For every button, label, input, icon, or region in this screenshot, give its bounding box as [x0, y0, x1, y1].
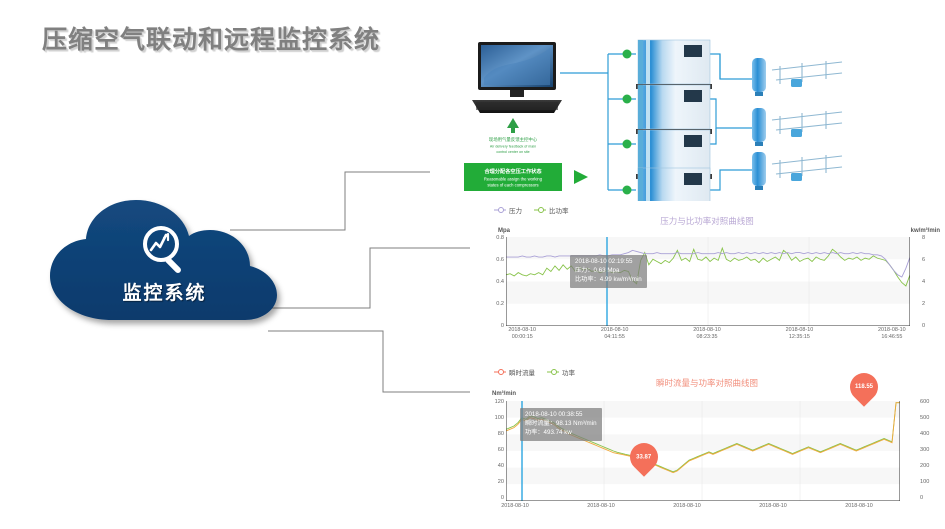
- xtick-time: 08:23:35: [697, 334, 718, 340]
- chart-flow-ylabel-left: Nm³/min: [492, 391, 516, 397]
- diagram-caption-en-2: control center on site: [496, 150, 529, 154]
- up-arrow-icon: [507, 118, 519, 128]
- diagram-caption-cn: 现场用气量反馈主控中心: [489, 136, 538, 143]
- chart-flow-vs-power: 瞬时流量 功率 瞬时流量与功率对照曲线图 Nm³/min 120 100 80 …: [472, 365, 942, 529]
- page-title: 压缩空气联动和远程监控系统: [42, 20, 380, 56]
- tooltip-timestamp: 2018-08-10 00:38:55: [525, 411, 597, 420]
- xtick-date: 2018-08-10: [508, 327, 536, 333]
- xtick-time: 04:11:55: [604, 334, 625, 340]
- legend-item-power[interactable]: 功率: [547, 367, 575, 377]
- compressor-unit: [636, 40, 712, 89]
- xtick-date: 2018-08-10: [878, 327, 906, 333]
- slide-canvas: 压缩空气联动和远程监控系统: [0, 0, 945, 529]
- xtick-date: 2018-08-10: [845, 503, 873, 509]
- air-receiver-group: [752, 108, 842, 146]
- ytick-right: 100: [920, 479, 940, 485]
- xtick-date: 2018-08-10: [587, 503, 615, 509]
- ytick-right: 400: [920, 431, 940, 437]
- chart-flow-legend[interactable]: 瞬时流量 功率: [494, 367, 575, 377]
- xtick-time: 12:35:15: [789, 334, 810, 340]
- ytick-left: 120: [474, 399, 504, 405]
- compressor-unit: [636, 85, 712, 134]
- monitoring-cloud[interactable]: 监控系统: [42, 196, 287, 326]
- ytick-right: 600: [920, 399, 940, 405]
- tooltip-row: 功率：493.74 kw: [525, 429, 597, 438]
- xtick-date: 2018-08-10: [693, 327, 721, 333]
- xtick-date: 2018-08-10: [501, 503, 529, 509]
- magnifier-chart-icon: [137, 224, 193, 276]
- chart-pressure-legend[interactable]: 压力 比功率: [494, 205, 569, 215]
- ytick-right: 300: [920, 447, 940, 453]
- compressor-node-dots: [623, 50, 632, 195]
- xtick-date: 2018-08-10: [601, 327, 629, 333]
- legend-label-power: 功率: [562, 367, 575, 377]
- xtick-time: 16:46:55: [881, 334, 902, 340]
- air-receiver-group: [752, 58, 842, 96]
- ytick-right: 200: [920, 463, 940, 469]
- connector-to-chart-pressure: [260, 248, 470, 308]
- ytick-left: 0.4: [478, 279, 504, 285]
- diagram-caption-en-1: Air delivery feedback of main: [490, 145, 536, 149]
- xtick-date: 2018-08-10: [759, 503, 787, 509]
- legend-marker-specific-power: [534, 207, 546, 214]
- legend-label-pressure: 压力: [509, 205, 522, 215]
- ytick-left: 0.2: [478, 301, 504, 307]
- legend-marker-pressure: [494, 207, 506, 214]
- ytick-left: 40: [474, 463, 504, 469]
- ytick-right: 6: [922, 257, 938, 263]
- computer-monitor-icon: [472, 42, 562, 113]
- chart-pressure-tooltip: 2018-08-10 02:19:55 压力：0.63 Mpa 比功率：4.99…: [570, 255, 647, 288]
- tooltip-row: 压力：0.63 Mpa: [575, 267, 642, 276]
- compressor-unit: [636, 168, 712, 201]
- diagram-badge-en-2: states of each compressors: [487, 183, 538, 188]
- ytick-left: 0.6: [478, 257, 504, 263]
- chart-pressure-ylabel-left: Mpa: [498, 228, 510, 234]
- chart-pressure-ylabel-right: kw/m³/min: [911, 228, 940, 234]
- ytick-right: 0: [920, 495, 940, 501]
- air-receiver-group: [752, 152, 842, 190]
- ytick-right: 4: [922, 279, 938, 285]
- ytick-left: 0: [474, 495, 504, 501]
- legend-item-pressure[interactable]: 压力: [494, 205, 522, 215]
- ytick-left: 20: [474, 479, 504, 485]
- right-arrow-icon: [574, 170, 588, 184]
- ytick-left: 0.8: [478, 235, 504, 241]
- chart-flow-tooltip: 2018-08-10 00:38:55 瞬时流量：98.13 Nm³/min 功…: [520, 408, 602, 441]
- chart-pressure-title: 压力与比功率对照曲线图: [472, 215, 942, 227]
- chart-flow-xaxis: 2018-08-10 2018-08-10 2018-08-10 2018-08…: [472, 503, 902, 510]
- ytick-right: 8: [922, 235, 938, 241]
- chart-pressure-xaxis: 2018-08-1000:00:15 2018-08-1004:11:55 20…: [476, 327, 938, 342]
- chart-pressure-plot-area[interactable]: [506, 237, 910, 326]
- ytick-left: 60: [474, 447, 504, 453]
- diagram-badge-cn: 合理分配各空压工作状态: [484, 167, 542, 175]
- ytick-left: 100: [474, 415, 504, 421]
- connector-to-chart-flow: [268, 331, 470, 392]
- tooltip-timestamp: 2018-08-10 02:19:55: [575, 258, 642, 267]
- tooltip-row: 比功率：4.99 kw/m³/min: [575, 276, 642, 285]
- legend-label-specific-power: 比功率: [549, 205, 569, 215]
- xtick-date: 2018-08-10: [673, 503, 701, 509]
- legend-marker-instant-flow: [494, 369, 506, 376]
- legend-item-instant-flow[interactable]: 瞬时流量: [494, 367, 535, 377]
- xtick-date: 2018-08-10: [786, 327, 814, 333]
- tooltip-row: 瞬时流量：98.13 Nm³/min: [525, 420, 597, 429]
- ytick-right: 500: [920, 415, 940, 421]
- xtick-time: 00:00:15: [512, 334, 533, 340]
- diagram-badge-en-1: Reasonable assign the working: [484, 177, 543, 182]
- chart-pressure-vs-specific-power: 压力 比功率 压力与比功率对照曲线图 Mpa kw/m³/min 0.8 0.6…: [472, 203, 942, 331]
- ytick-right: 2: [922, 301, 938, 307]
- compressed-air-system-diagram: 现场用气量反馈主控中心 Air delivery feedback of mai…: [450, 18, 940, 201]
- ytick-left: 80: [474, 431, 504, 437]
- legend-marker-power: [547, 369, 559, 376]
- legend-label-instant-flow: 瞬时流量: [509, 367, 535, 377]
- legend-item-specific-power[interactable]: 比功率: [534, 205, 569, 215]
